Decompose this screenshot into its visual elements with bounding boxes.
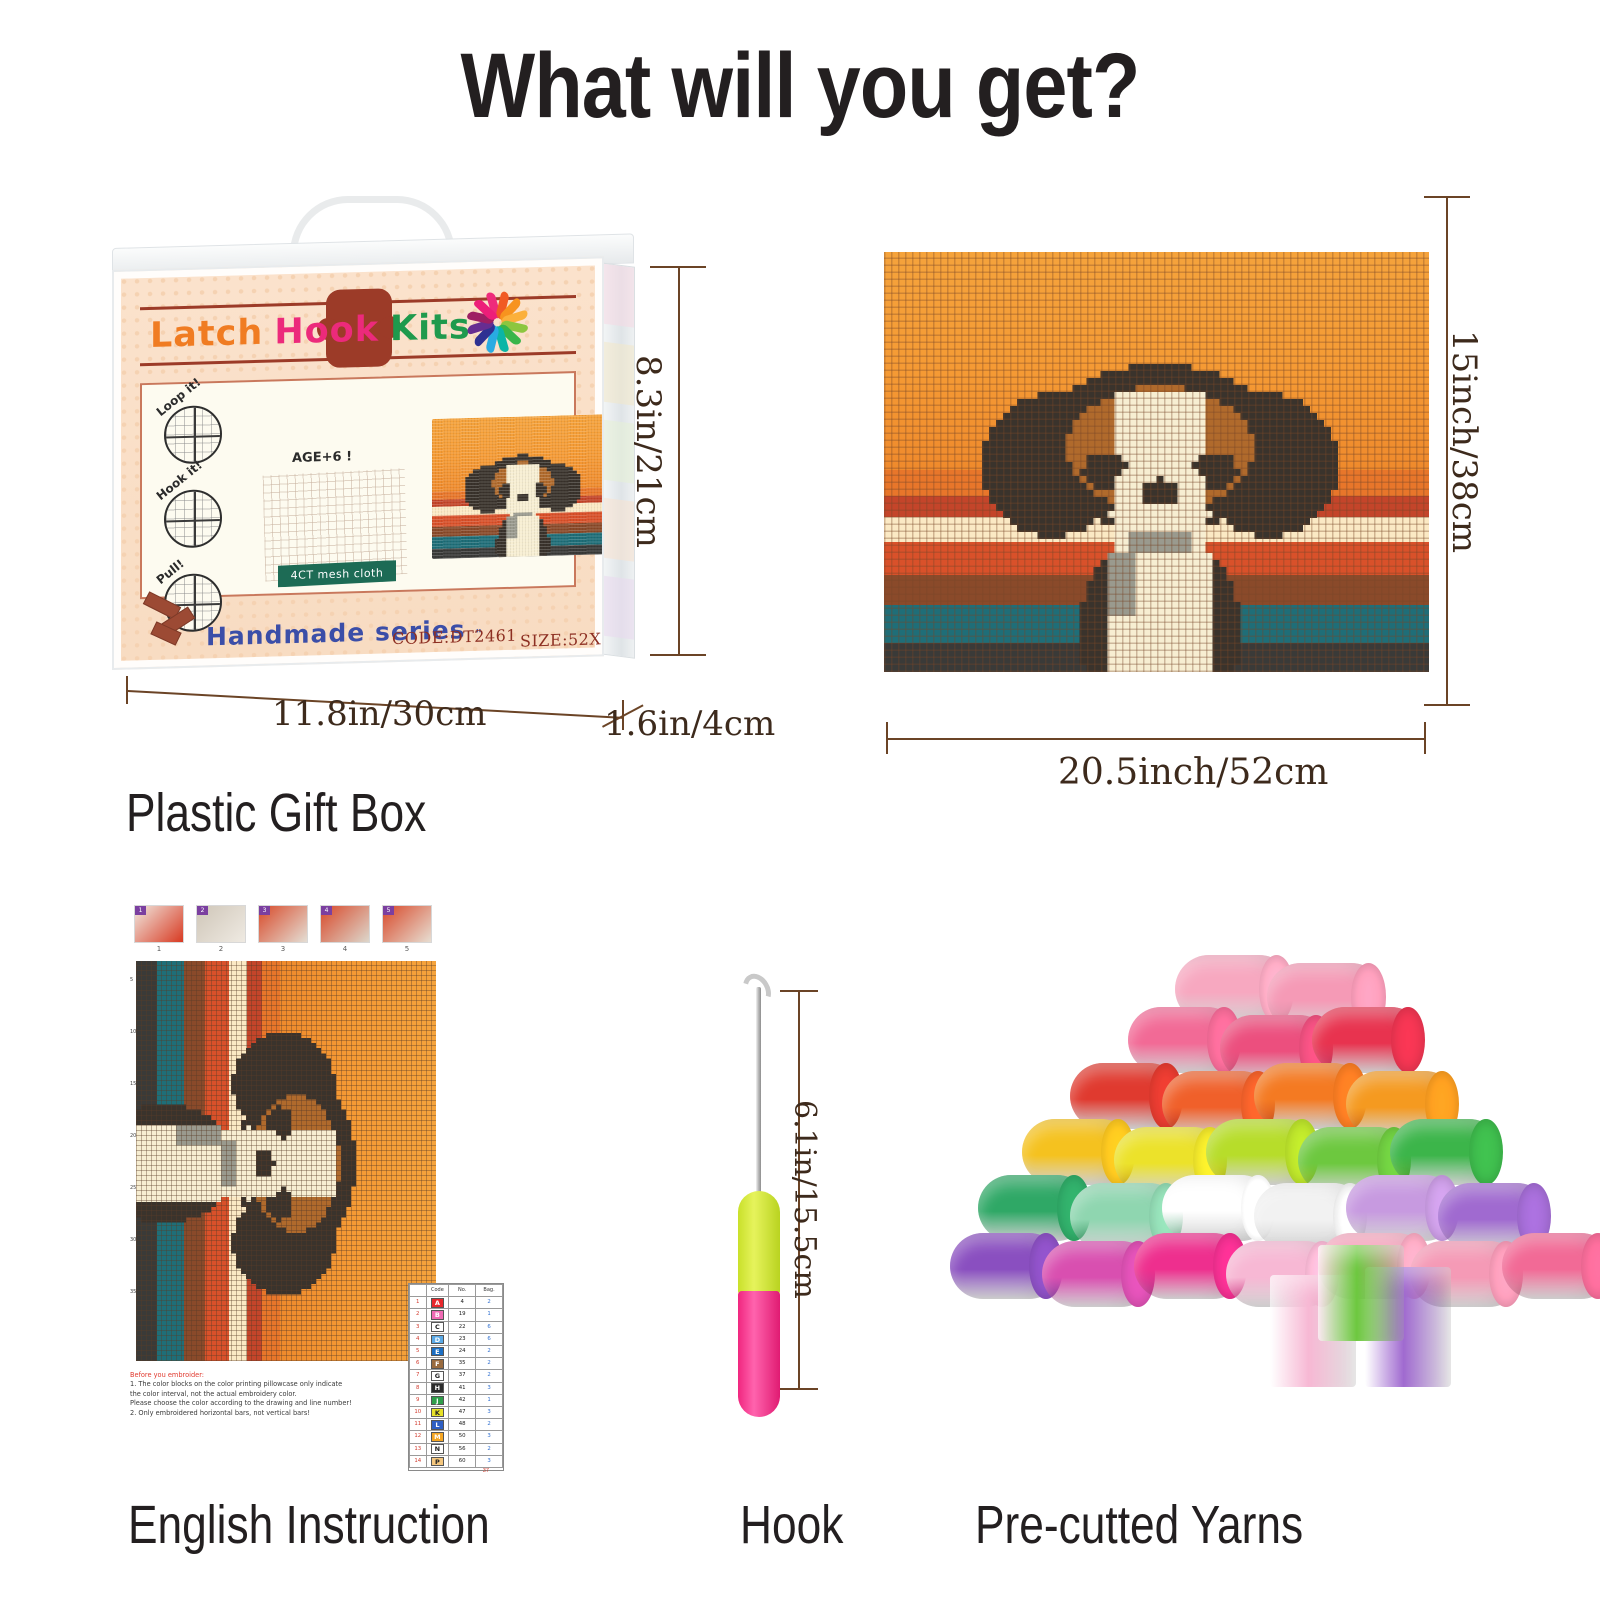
legend-number: 24 xyxy=(449,1346,476,1358)
legend-color-swatch: F xyxy=(431,1359,444,1369)
legend-color-swatch: K xyxy=(431,1408,444,1418)
legend-number: 48 xyxy=(449,1419,476,1431)
before-lines: 1. The color blocks on the color printin… xyxy=(130,1380,426,1418)
before-line: the color interval, not the actual embro… xyxy=(130,1390,426,1399)
age-label: AGE+6 ! xyxy=(292,449,352,466)
before-line: 2. Only embroidered horizontal bars, not… xyxy=(130,1409,426,1418)
yarn-roll xyxy=(1318,1245,1404,1341)
legend-index: 5 xyxy=(410,1346,427,1358)
box-instruction-panel: Loop it! Hook it! Pull! AGE+6 ! 4CT mesh… xyxy=(140,371,576,599)
canvas-width-tick-right xyxy=(1424,722,1426,754)
legend-index: 6 xyxy=(410,1358,427,1370)
hook-dim-tick-bottom xyxy=(780,1388,818,1390)
legend-row: 14P603 xyxy=(410,1455,503,1467)
legend-number: 22 xyxy=(449,1321,476,1333)
printed-canvas-photo xyxy=(884,252,1429,672)
legend-code: C xyxy=(426,1321,449,1333)
legend-column-header: Bag. xyxy=(476,1285,503,1297)
legend-column-header xyxy=(410,1285,427,1297)
thumbnail-badge: 1 xyxy=(135,906,146,915)
legend-color-swatch: C xyxy=(431,1322,444,1332)
chart-row-tick: 25 xyxy=(130,1185,136,1191)
legend-index: 3 xyxy=(410,1321,427,1333)
thumbnail-number: 2 xyxy=(196,945,246,953)
thumbnail-badge: 3 xyxy=(259,906,270,915)
size-label: SIZE: xyxy=(520,630,568,650)
chart-row-tick: 20 xyxy=(130,1133,136,1139)
rainbow-pinwheel-icon xyxy=(466,290,528,354)
legend-number: 50 xyxy=(449,1431,476,1443)
canvas-pixel-artwork xyxy=(884,252,1429,672)
canvas-height-label: 15inch/38cm xyxy=(1444,330,1484,553)
legend-index: 4 xyxy=(410,1333,427,1345)
before-heading: Before you embroider: xyxy=(130,1371,204,1379)
legend-index: 13 xyxy=(410,1443,427,1455)
thumbnail-number: 1 xyxy=(134,945,184,953)
thumbnail-number: 5 xyxy=(382,945,432,953)
caption-hook: Hook xyxy=(740,1494,843,1556)
legend-color-swatch: G xyxy=(431,1371,444,1381)
title-word-latch: Latch xyxy=(150,313,263,356)
legend-number: 19 xyxy=(449,1309,476,1321)
legend-row: 11L482 xyxy=(410,1419,503,1431)
legend-header-row: CodeNo.Bag. xyxy=(410,1285,503,1297)
canvas-height-tick-top xyxy=(1424,196,1470,198)
product-size: SIZE:52X38CM xyxy=(520,628,604,651)
legend-color-swatch: M xyxy=(431,1432,444,1442)
legend-color-swatch: L xyxy=(431,1420,444,1430)
box-height-label: 8.3in/21cm xyxy=(628,355,668,548)
legend-bag-count: 2 xyxy=(476,1346,503,1358)
legend-bag-count: 2 xyxy=(476,1297,503,1309)
legend-index: 12 xyxy=(410,1431,427,1443)
legend-row: 12M503 xyxy=(410,1431,503,1443)
product-code: CODE:DT2461 xyxy=(392,626,517,648)
before-line: 1. The color blocks on the color printin… xyxy=(130,1380,426,1389)
legend-color-swatch: H xyxy=(431,1383,444,1393)
title-word-kits: Kits xyxy=(390,307,471,349)
legend-row: 1A42 xyxy=(410,1297,503,1309)
instruction-thumbnail: 3 xyxy=(258,905,308,943)
step-circle-loop xyxy=(164,405,222,465)
legend-row: 5E242 xyxy=(410,1346,503,1358)
box-height-tick-bottom xyxy=(650,654,706,656)
legend-row: 4D236 xyxy=(410,1333,503,1345)
legend-code: N xyxy=(426,1443,449,1455)
legend-row: 3C226 xyxy=(410,1321,503,1333)
box-height-line xyxy=(678,266,680,654)
legend-bag-count: 3 xyxy=(476,1407,503,1419)
legend-total: 37 xyxy=(409,1468,503,1474)
legend-code: P xyxy=(426,1455,449,1467)
thumbnail-badge: 5 xyxy=(383,906,394,915)
legend-number: 37 xyxy=(449,1370,476,1382)
thumbnail-badge: 2 xyxy=(197,906,208,915)
legend-number: 23 xyxy=(449,1333,476,1345)
canvas-height-tick-bottom xyxy=(1424,704,1470,706)
legend-column-header: No. xyxy=(449,1285,476,1297)
legend-index: 2 xyxy=(410,1309,427,1321)
canvas-width-label: 20.5inch/52cm xyxy=(1058,752,1328,793)
legend-bag-count: 3 xyxy=(476,1455,503,1467)
box-height-tick-top xyxy=(650,266,706,268)
canvas-width-line xyxy=(886,738,1426,740)
legend-code: B xyxy=(426,1309,449,1321)
yarn-bundle-end xyxy=(1581,1233,1600,1299)
legend-code: D xyxy=(426,1333,449,1345)
chart-row-tick: 35 xyxy=(130,1289,136,1295)
chart-row-tick: 15 xyxy=(130,1081,136,1087)
caption-gift-box: Plastic Gift Box xyxy=(126,782,426,844)
legend-color-swatch: B xyxy=(431,1310,444,1320)
hook-dimension-label: 6.1in/15.5cm xyxy=(787,1100,822,1299)
step-circle-hook xyxy=(164,489,222,549)
legend-number: 35 xyxy=(449,1358,476,1370)
legend-number: 4 xyxy=(449,1297,476,1309)
chart-row-tick: 30 xyxy=(130,1237,136,1243)
hook-handle-lower xyxy=(738,1291,780,1417)
box-width-label: 11.8in/30cm xyxy=(272,694,486,734)
latch-hook-photo xyxy=(700,965,870,1435)
yarn-bundle-end xyxy=(1391,1007,1425,1073)
chart-row-tick: 10 xyxy=(130,1029,136,1035)
caption-english-instruction: English Instruction xyxy=(128,1494,490,1556)
code-value: DT2461 xyxy=(450,626,517,647)
legend-bag-count: 6 xyxy=(476,1333,503,1345)
legend-number: 47 xyxy=(449,1407,476,1419)
legend-bag-count: 1 xyxy=(476,1394,503,1406)
legend-number: 42 xyxy=(449,1394,476,1406)
before-line: Please choose the color according to the… xyxy=(130,1399,426,1408)
code-label: CODE: xyxy=(392,628,450,649)
legend-bag-count: 2 xyxy=(476,1358,503,1370)
legend-code: G xyxy=(426,1370,449,1382)
legend-index: 11 xyxy=(410,1419,427,1431)
legend-color-swatch: A xyxy=(431,1298,444,1308)
caption-yarns: Pre-cutted Yarns xyxy=(975,1494,1303,1556)
legend-row: 6F352 xyxy=(410,1358,503,1370)
hook-handle-upper xyxy=(738,1191,780,1295)
legend-code: K xyxy=(426,1407,449,1419)
instruction-thumbnail: 1 xyxy=(134,905,184,943)
page-title: What will you get? xyxy=(112,34,1488,139)
legend-bag-count: 1 xyxy=(476,1309,503,1321)
legend-color-swatch: D xyxy=(431,1335,444,1345)
legend-color-swatch: N xyxy=(431,1444,444,1454)
box-depth-label: 1.6in/4cm xyxy=(604,704,775,744)
before-you-embroider-note: Before you embroider: 1. The color block… xyxy=(130,1371,426,1418)
legend-bag-count: 3 xyxy=(476,1431,503,1443)
legend-code: H xyxy=(426,1382,449,1394)
legend-bag-count: 2 xyxy=(476,1370,503,1382)
size-value: 52X38CM xyxy=(568,628,604,649)
legend-bag-count: 2 xyxy=(476,1419,503,1431)
legend-color-swatch: J xyxy=(431,1396,444,1406)
legend-bag-count: 2 xyxy=(476,1443,503,1455)
legend-code: F xyxy=(426,1358,449,1370)
legend-number: 56 xyxy=(449,1443,476,1455)
box-front-panel: Latch Hook Kits Loop it! Hook it! xyxy=(112,256,604,670)
legend-code: L xyxy=(426,1419,449,1431)
box-body: Latch Hook Kits Loop it! Hook it! xyxy=(112,255,634,680)
title-word-hook: Hook xyxy=(274,310,379,353)
legend-bag-count: 3 xyxy=(476,1382,503,1394)
legend-index: 14 xyxy=(410,1455,427,1467)
gift-box-photo: Latch Hook Kits Loop it! Hook it! xyxy=(112,196,652,666)
chart-row-tick: 5 xyxy=(130,977,133,983)
thumbnail-badge: 4 xyxy=(321,906,332,915)
legend-number: 60 xyxy=(449,1455,476,1467)
product-infographic: What will you get? Latch Hook Kits xyxy=(0,0,1600,1600)
legend-color-swatch: P xyxy=(431,1457,444,1467)
instruction-thumbnail: 2 xyxy=(196,905,246,943)
box-title: Latch Hook Kits xyxy=(150,300,480,363)
instruction-thumbnail: 4 xyxy=(320,905,370,943)
legend-color-swatch: E xyxy=(431,1347,444,1357)
legend-code: J xyxy=(426,1394,449,1406)
instruction-thumbnail: 5 xyxy=(382,905,432,943)
yarn-bundle xyxy=(1502,1233,1600,1299)
finished-rug-preview xyxy=(432,414,604,559)
legend-code: M xyxy=(426,1431,449,1443)
zigzag-ornament xyxy=(144,593,208,641)
legend-row: 13N562 xyxy=(410,1443,503,1455)
legend-index: 1 xyxy=(410,1297,427,1309)
hook-needle-shaft xyxy=(756,987,761,1205)
box-width-tick-left xyxy=(126,676,128,704)
legend-number: 41 xyxy=(449,1382,476,1394)
legend-code: A xyxy=(426,1297,449,1309)
instruction-pattern-chart xyxy=(136,961,436,1361)
yarn-bundle-end xyxy=(1469,1119,1503,1185)
hook-dim-tick-top xyxy=(780,990,818,992)
pre-cutted-yarns-photo xyxy=(960,945,1470,1395)
thumbnail-number: 3 xyxy=(258,945,308,953)
canvas-width-tick-left xyxy=(886,722,888,754)
instruction-thumbnail-row: 1122334455 xyxy=(134,905,446,957)
legend-code: E xyxy=(426,1346,449,1358)
english-instruction-sheet: 1122334455 5101520253035 CodeNo.Bag. 1A4… xyxy=(126,905,446,1480)
legend-bag-count: 6 xyxy=(476,1321,503,1333)
legend-row: 2B191 xyxy=(410,1309,503,1321)
legend-column-header: Code xyxy=(426,1285,449,1297)
thumbnail-number: 4 xyxy=(320,945,370,953)
